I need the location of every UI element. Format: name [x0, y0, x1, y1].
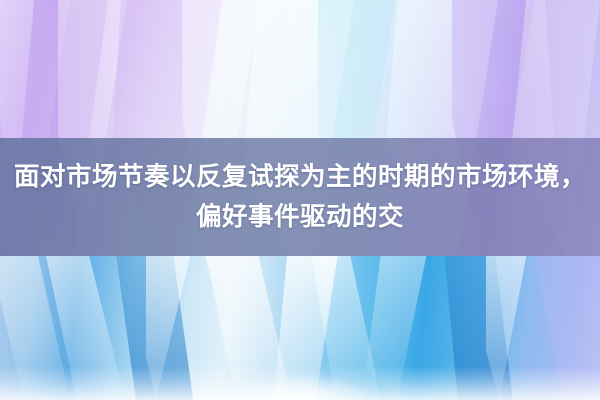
decorative-banner: 面对市场节奏以反复试探为主的时期的市场环境， 偏好事件驱动的交: [0, 0, 600, 400]
headline-line-1: 面对市场节奏以反复试探为主的时期的市场环境，: [14, 157, 586, 197]
background-facets-bottom: [0, 256, 600, 400]
headline-band: 面对市场节奏以反复试探为主的时期的市场环境， 偏好事件驱动的交: [0, 138, 600, 256]
bottom-fade: [0, 366, 600, 400]
headline-line-2: 偏好事件驱动的交: [196, 197, 404, 237]
